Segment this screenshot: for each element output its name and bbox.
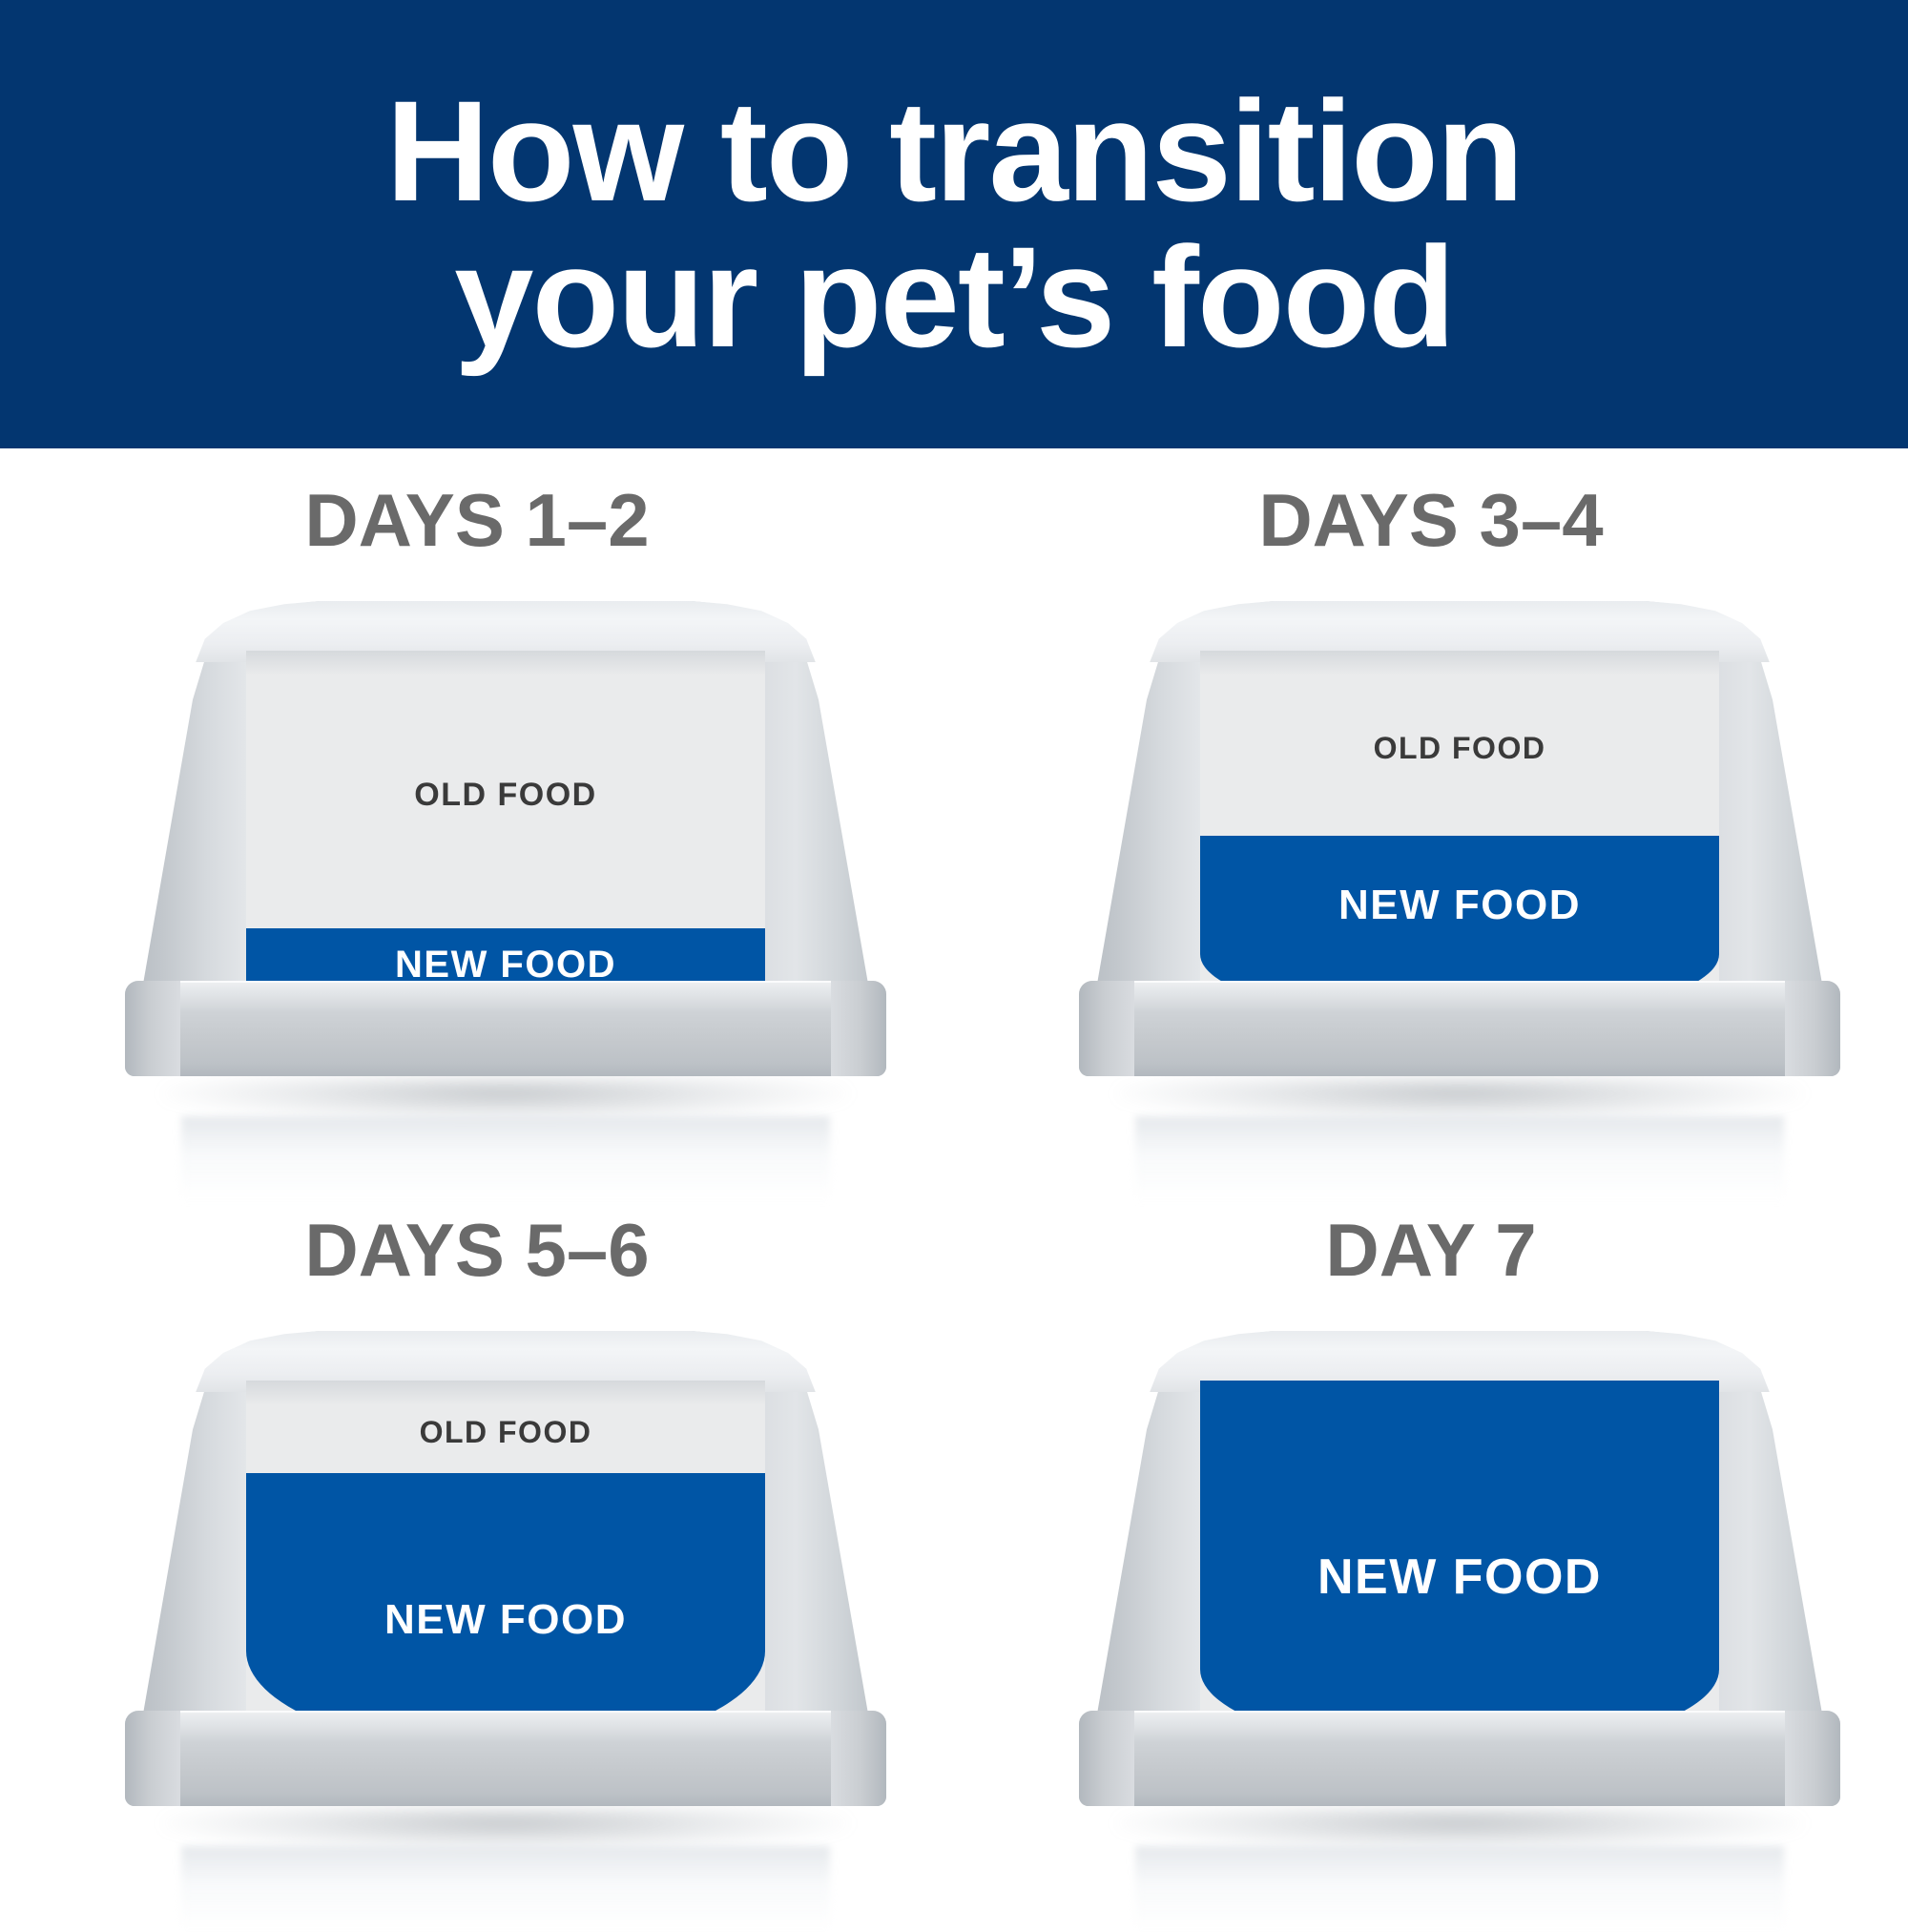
transition-steps-grid: DAYS 1–2 OLD FOOD NEW FOOD: [0, 448, 1908, 1908]
bowl-base-left-cap: [1079, 1711, 1134, 1806]
step-title-day-7: DAY 7: [954, 1207, 1908, 1294]
bowl-base: [1079, 981, 1840, 1076]
bowl-base-right-cap: [1785, 1711, 1840, 1806]
new-food-label: NEW FOOD: [246, 1596, 765, 1644]
step-card-days-5-6: DAYS 5–6 OLD FOOD NEW FOOD: [0, 1178, 954, 1908]
new-food-label: NEW FOOD: [1200, 1548, 1719, 1606]
step-title-days-5-6: DAYS 5–6: [0, 1207, 954, 1294]
bowl-base-right-cap: [831, 981, 886, 1076]
food-well-inner-shadow: [246, 651, 765, 675]
step-title-days-1-2: DAYS 1–2: [0, 477, 954, 564]
bowl-base-right-cap: [831, 1711, 886, 1806]
step-card-day-7: DAY 7 NEW FOOD: [954, 1178, 1908, 1908]
food-bowl-days-3-4: OLD FOOD NEW FOOD: [1078, 601, 1841, 1116]
old-food-label: OLD FOOD: [1200, 731, 1719, 766]
new-food-label: NEW FOOD: [1200, 882, 1719, 929]
bowl-food-well: OLD FOOD NEW FOOD: [246, 1381, 765, 1751]
bowl-base-left-cap: [1079, 981, 1134, 1076]
bowl-base-left-cap: [125, 1711, 180, 1806]
bowl-food-well: OLD FOOD NEW FOOD: [246, 651, 765, 1021]
infographic-page: How to transition your pet’s food DAYS 1…: [0, 0, 1908, 1908]
step-title-days-3-4: DAYS 3–4: [954, 477, 1908, 564]
food-bowl-days-5-6: OLD FOOD NEW FOOD: [124, 1331, 887, 1846]
food-bowl-days-1-2: OLD FOOD NEW FOOD: [124, 601, 887, 1116]
bowl-food-well: OLD FOOD NEW FOOD: [1200, 651, 1719, 1021]
food-bowl-day-7: NEW FOOD: [1078, 1331, 1841, 1846]
bowl-base-left-cap: [125, 981, 180, 1076]
header-banner: How to transition your pet’s food: [0, 0, 1908, 448]
bowl-base: [1079, 1711, 1840, 1806]
old-food-label: OLD FOOD: [246, 777, 765, 814]
bowl-floor-reflection: [1135, 1846, 1784, 1932]
bowl-base-right-cap: [1785, 981, 1840, 1076]
bowl-base: [125, 1711, 886, 1806]
food-well-inner-shadow: [1200, 651, 1719, 675]
step-card-days-3-4: DAYS 3–4 OLD FOOD NEW FOOD: [954, 448, 1908, 1178]
old-food-label: OLD FOOD: [246, 1415, 765, 1450]
bowl-floor-reflection: [181, 1846, 830, 1932]
food-well-inner-shadow: [246, 1381, 765, 1405]
bowl-food-well: NEW FOOD: [1200, 1381, 1719, 1751]
page-title: How to transition your pet’s food: [219, 78, 1689, 370]
bowl-base: [125, 981, 886, 1076]
step-card-days-1-2: DAYS 1–2 OLD FOOD NEW FOOD: [0, 448, 954, 1178]
